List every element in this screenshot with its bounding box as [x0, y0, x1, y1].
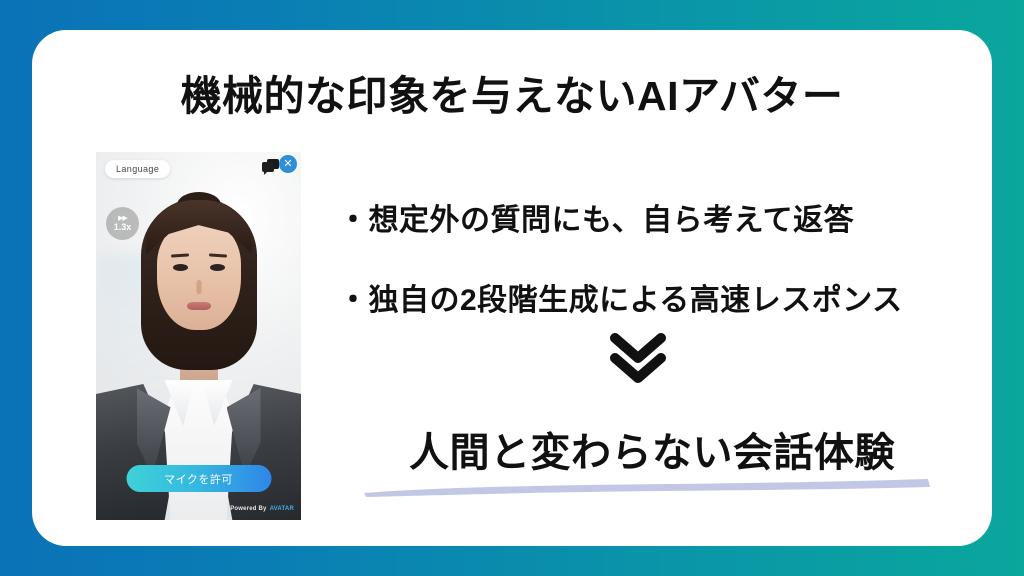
avatar-demo-panel[interactable]: Language ▶▶ 1.3x ✕ マイクを許可 Powered By AVA… [96, 152, 301, 520]
avatar-eye-right [210, 264, 225, 271]
fast-forward-icon: ▶▶ [118, 215, 127, 222]
page-title: 機械的な印象を与えないAIアバター [32, 62, 992, 122]
slide-root: 機械的な印象を与えないAIアバター [0, 0, 1024, 576]
conclusion-block: 人間と変わらない会話体験 [332, 420, 972, 520]
language-selector-button[interactable]: Language [105, 160, 170, 178]
brush-underline [362, 478, 932, 498]
avatar-lips [187, 302, 211, 310]
powered-by-prefix: Powered By [230, 506, 266, 512]
double-chevron-down-icon [607, 330, 669, 386]
chat-bubble-front [262, 162, 274, 172]
playback-speed-label: 1.3x [114, 222, 132, 233]
feature-bullet-1: ・想定外の質問にも、自ら考えて返答 [338, 195, 854, 239]
avatar-nose [196, 280, 201, 294]
playback-speed-button[interactable]: ▶▶ 1.3x [106, 207, 139, 240]
content-card: 機械的な印象を与えないAIアバター [32, 30, 992, 546]
feature-bullet-2: ・独自の2段階生成による高速レスポンス [338, 275, 903, 319]
powered-by-brand: AVATAR [270, 506, 294, 512]
chat-bubbles-icon[interactable] [262, 159, 279, 173]
avatar-eye-left [173, 264, 188, 271]
avatar-face [157, 218, 241, 330]
allow-microphone-button[interactable]: マイクを許可 [126, 465, 271, 492]
conclusion-text: 人間と変わらない会話体験 [332, 420, 972, 478]
powered-by-credit: Powered By AVATAR [230, 506, 294, 512]
close-icon[interactable]: ✕ [279, 155, 297, 173]
